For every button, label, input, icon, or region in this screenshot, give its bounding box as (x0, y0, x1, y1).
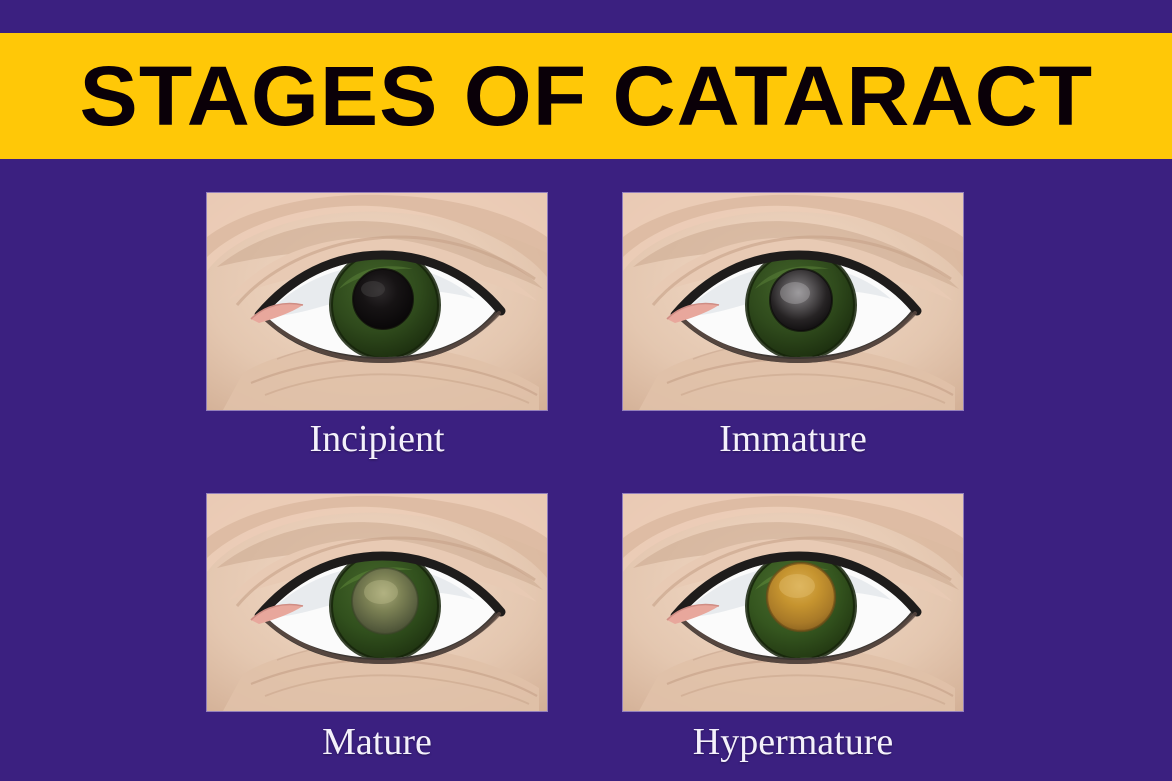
stage-label-mature: Mature (207, 721, 547, 765)
eye-illustration-incipient (207, 193, 547, 410)
stage-card-mature[interactable]: Mature (207, 494, 547, 765)
stage-label-incipient: Incipient (207, 418, 547, 462)
stage-label-hypermature: Hypermature (623, 721, 963, 765)
stage-card-hypermature[interactable]: Hypermature (623, 494, 963, 765)
eye-illustration-immature (623, 193, 963, 410)
stage-card-immature[interactable]: Immature (623, 193, 963, 462)
eye-illustration-hypermature (623, 494, 963, 711)
stage-card-incipient[interactable]: Incipient (207, 193, 547, 462)
eye-illustration-mature (207, 494, 547, 711)
title-banner: STAGES OF CATARACT (0, 33, 1172, 159)
stages-grid: Incipient (0, 159, 1172, 781)
page-title: STAGES OF CATARACT (79, 54, 1093, 138)
stage-label-immature: Immature (623, 418, 963, 462)
